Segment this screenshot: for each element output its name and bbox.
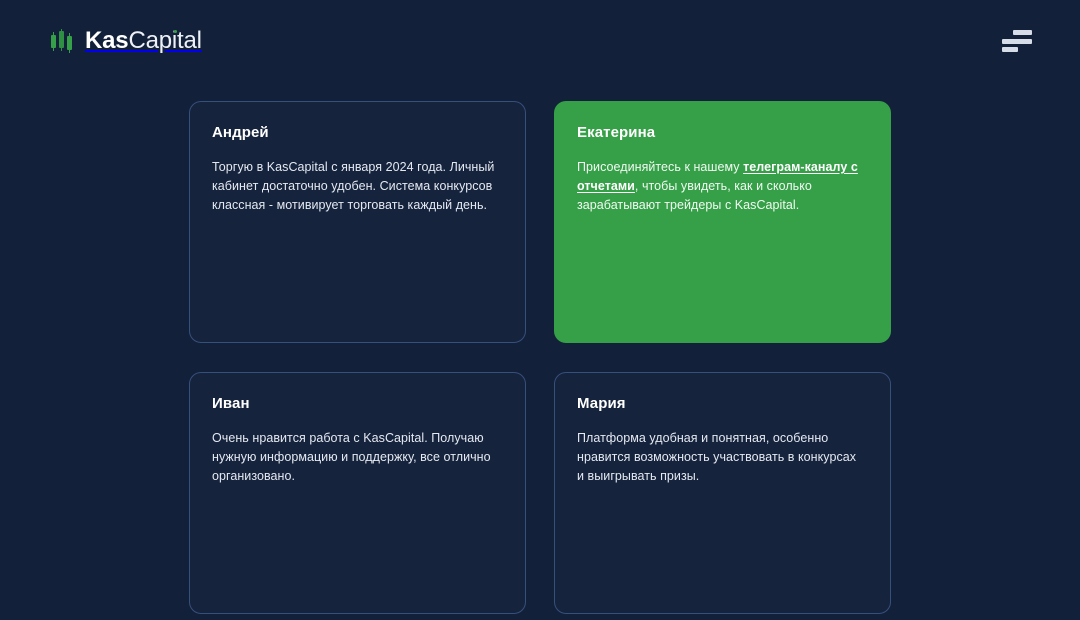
testimonial-text: Присоединяйтесь к нашему телеграм-каналу… <box>577 158 866 215</box>
testimonial-card: Иван Очень нравится работа с KasCapital.… <box>189 372 526 614</box>
testimonial-card-highlighted: Екатерина Присоединяйтесь к нашему телег… <box>554 101 891 343</box>
testimonial-author: Екатерина <box>577 124 866 142</box>
brand-name-light: Capital <box>128 27 201 54</box>
testimonial-card: Мария Платформа удобная и понятная, особ… <box>554 372 891 614</box>
testimonial-author: Андрей <box>212 124 501 142</box>
testimonial-card: Андрей Торгую в KasCapital с января 2024… <box>189 101 526 343</box>
site-header: KasCapital <box>0 0 1080 82</box>
brand-wordmark: KasCapital <box>85 29 202 53</box>
testimonial-author: Мария <box>577 395 866 413</box>
brand-logo[interactable]: KasCapital <box>50 28 202 54</box>
testimonials-page: KasCapital Андрей Торгую в KasCapital с … <box>0 0 1080 620</box>
testimonial-text: Очень нравится работа с KasCapital. Полу… <box>212 429 501 486</box>
menu-line-middle <box>1002 39 1032 44</box>
testimonial-text-before: Присоединяйтесь к нашему <box>577 160 743 174</box>
candlestick-chart-icon <box>50 28 76 54</box>
testimonial-author: Иван <box>212 395 501 413</box>
testimonials-grid: Андрей Торгую в KasCapital с января 2024… <box>189 101 891 614</box>
brand-name-bold: Kas <box>85 27 128 54</box>
testimonial-text: Платформа удобная и понятная, особенно н… <box>577 429 866 486</box>
testimonial-text: Торгую в KasCapital с января 2024 года. … <box>212 158 501 215</box>
menu-line-bottom <box>1002 47 1018 52</box>
brand-accent-dot <box>174 30 177 33</box>
menu-line-top <box>1013 30 1032 35</box>
hamburger-menu-icon[interactable] <box>1002 30 1032 52</box>
